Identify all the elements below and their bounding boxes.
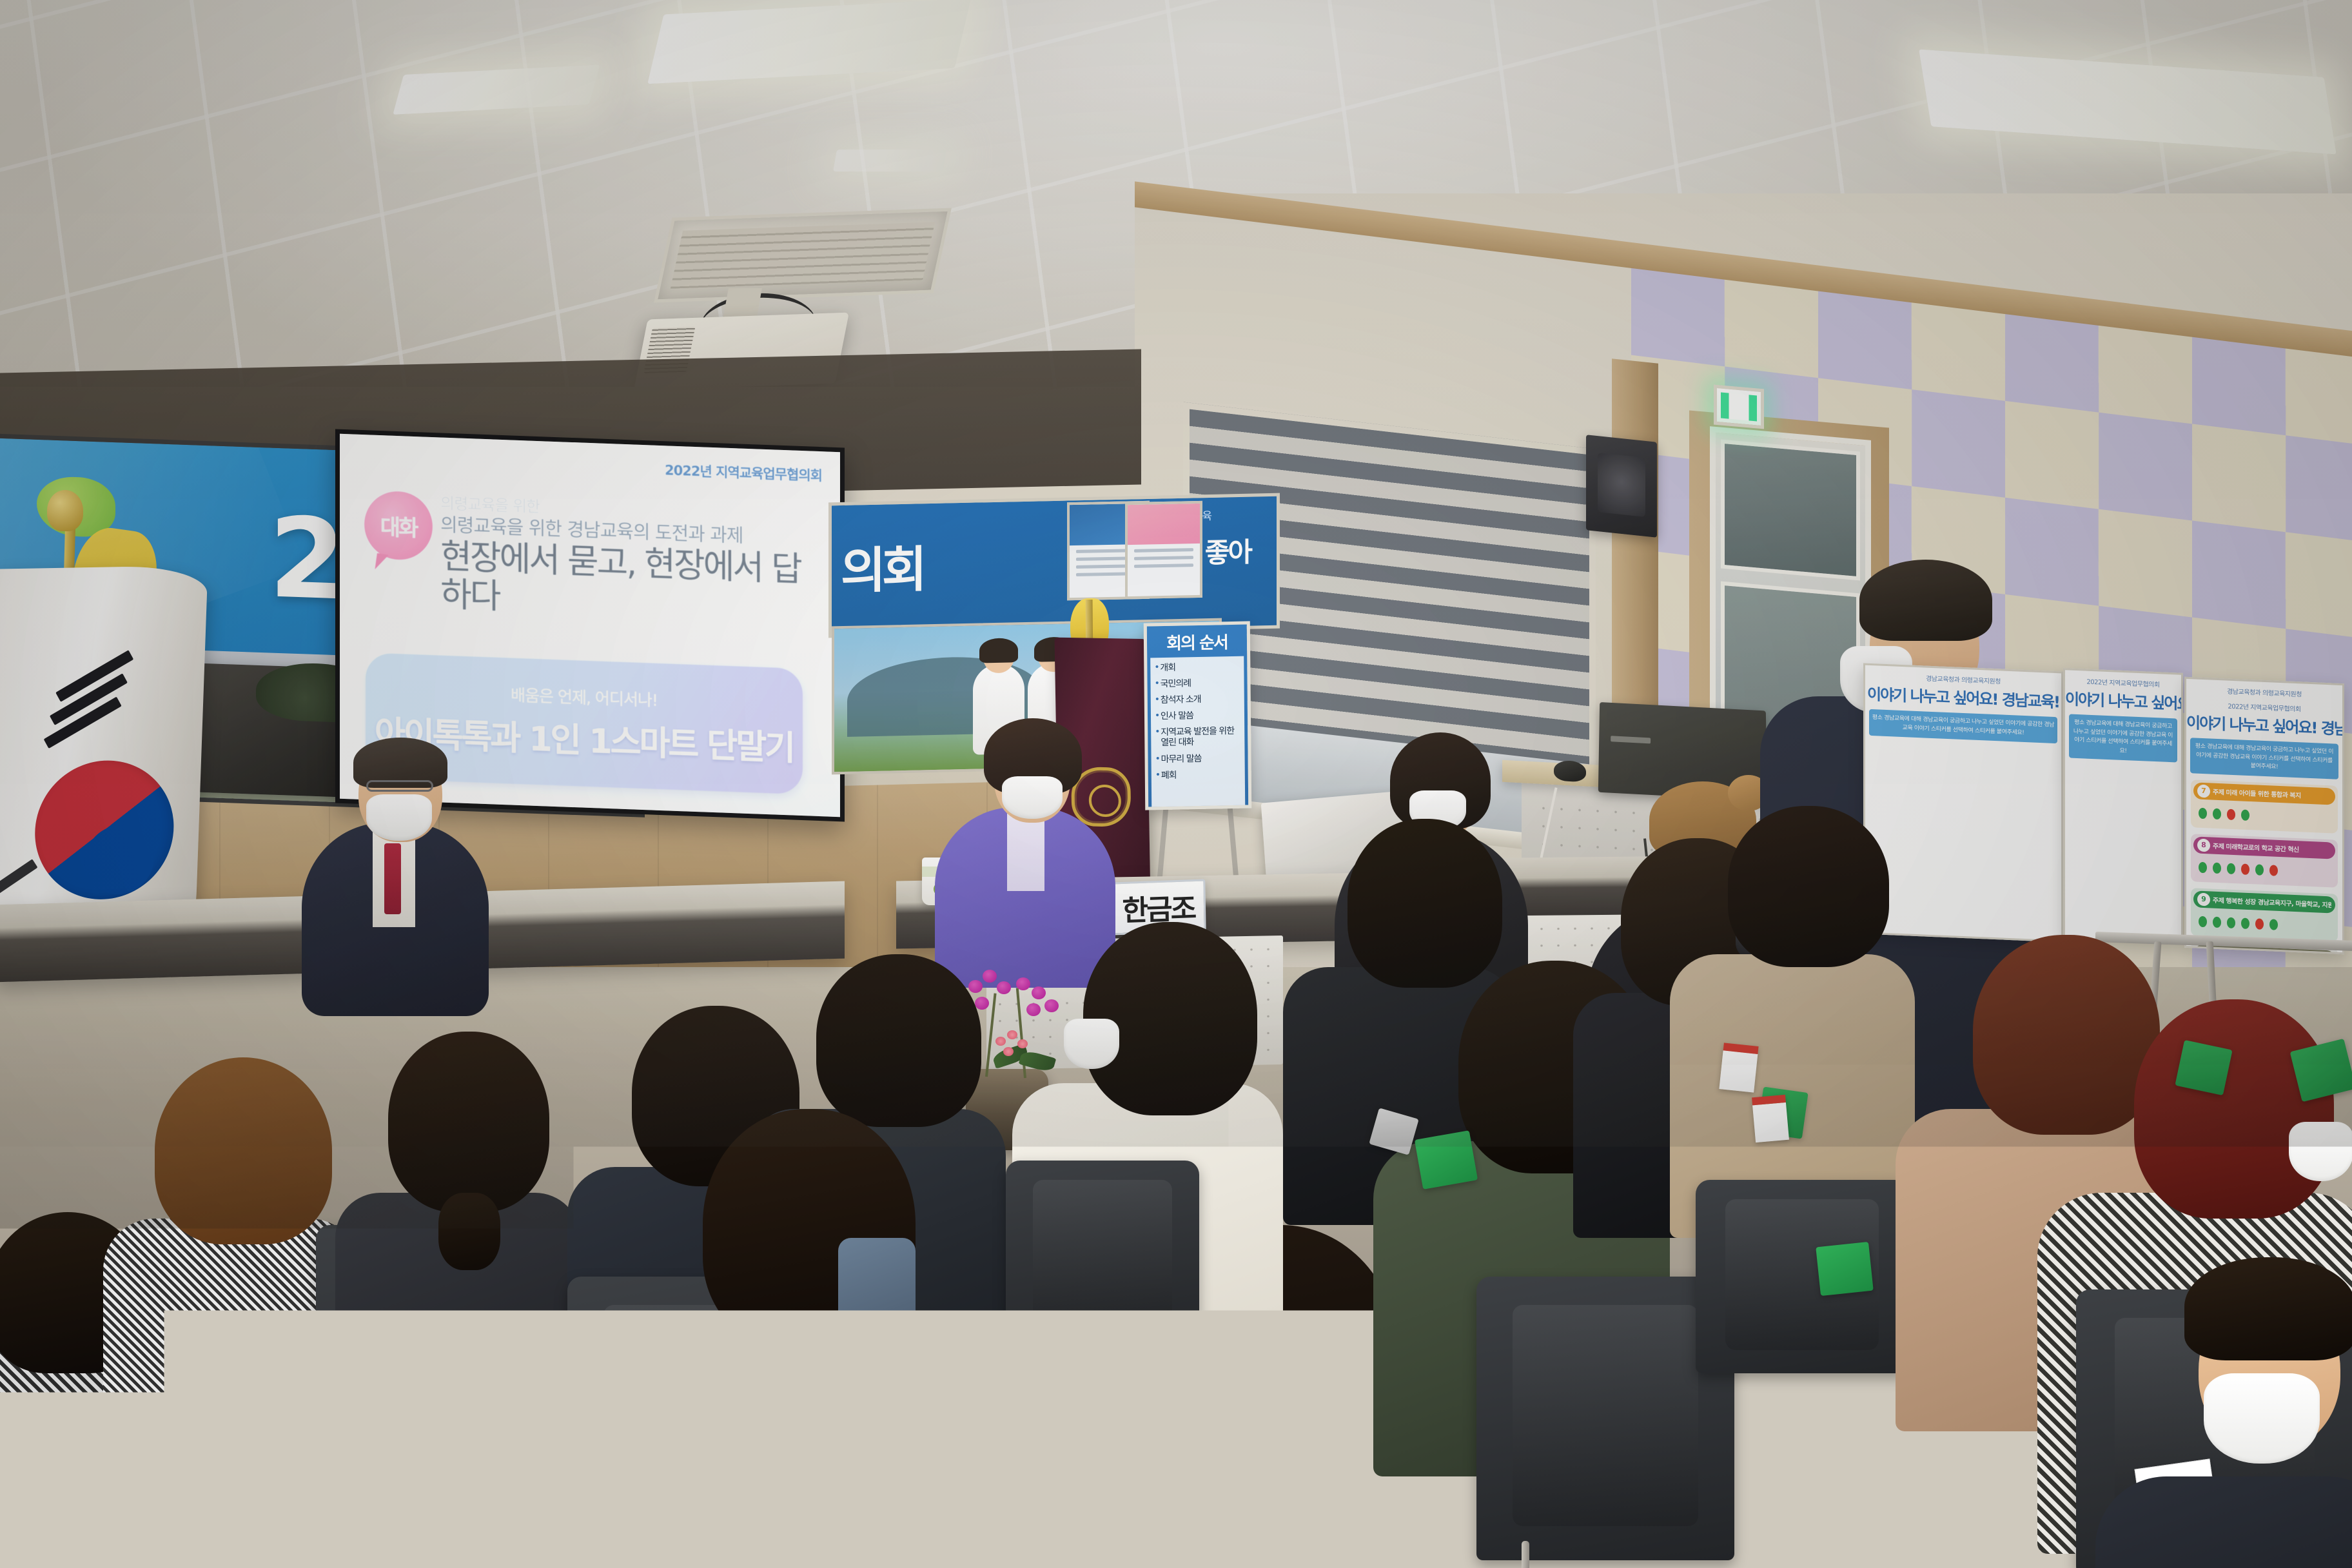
- sticker-dot-red: [2227, 808, 2235, 820]
- sticker-dot-green: [2241, 809, 2249, 821]
- sticker-dot-green: [2269, 919, 2278, 930]
- person-hair: [1728, 806, 1889, 967]
- poster-topic-label: 주제 미래 아이들 위한 통합과 복지: [2213, 787, 2301, 800]
- agenda-item: 폐회: [1155, 769, 1241, 781]
- poster-topic-number: 8: [2197, 838, 2210, 852]
- sticker-dot-green: [2255, 864, 2264, 876]
- orchid-bloom: [1016, 977, 1030, 990]
- ponytail: [438, 1193, 500, 1270]
- kalanchoe-flower: [1007, 1030, 1017, 1039]
- poster-instruction: 평소 경남교육에 대해 경남교육이 궁금하고 나누고 싶었던 이야기에 공감한 …: [1869, 709, 2057, 743]
- sticker-dot-green: [2199, 807, 2207, 819]
- opinion-poster-right: 경남교육청과 의령교육지원청 2022년 지역교육업무협의회 이야기 나누고 싶…: [2184, 677, 2344, 954]
- sticker-dot-group: [2193, 799, 2335, 830]
- hanging-nametag: [1719, 1043, 1758, 1092]
- handbag-strap: [1057, 1354, 1109, 1412]
- face-mask: [2289, 1122, 2352, 1181]
- kalanchoe-flower: [1017, 1039, 1028, 1048]
- poster-topic-row: 9주제 행복한 성장 경남교육지구, 마을학교, 지원기자체: [2191, 888, 2338, 942]
- eyeglasses: [366, 780, 433, 792]
- person-hair-brown: [155, 1057, 332, 1244]
- agenda-item: 국민의례: [1154, 678, 1240, 690]
- speech-bubble-icon: 대화: [364, 490, 433, 561]
- poster-headline: 이야기 나누고 싶어요! 경남교육!: [2186, 710, 2342, 739]
- notice-line: [1134, 564, 1193, 569]
- notice-header: [1128, 504, 1200, 545]
- face-mask: [1064, 1019, 1119, 1069]
- door-glass-upper: [1721, 440, 1860, 581]
- sticker-dot-red: [2255, 918, 2264, 930]
- agenda-item: 참석자 소개: [1155, 694, 1240, 706]
- person-torso: [2095, 1476, 2352, 1568]
- trigram-bar: [0, 859, 38, 895]
- orchid-bloom: [1032, 986, 1046, 999]
- air-conditioner-vent: [654, 208, 952, 303]
- orchid-bloom: [1026, 1003, 1041, 1016]
- agenda-title: 회의 순서: [1147, 625, 1247, 657]
- agenda-list: 개회국민의례참석자 소개인사 말씀지역교육 발전을 위한 열린 대화마무리 말씀…: [1154, 661, 1241, 781]
- poster-topic-row: 7주제 미래 아이들 위한 통합과 복지: [2191, 779, 2338, 834]
- slide-title: 현장에서 묻고, 현장에서 답하다: [440, 538, 822, 627]
- kalanchoe-flower: [995, 1037, 1006, 1046]
- agenda-item: 마무리 말씀: [1155, 752, 1241, 765]
- face-mask: [1002, 776, 1063, 819]
- agenda-sheet: 개회국민의례참석자 소개인사 말씀지역교육 발전을 위한 열린 대화마무리 말씀…: [1150, 656, 1245, 808]
- right-wall-banner: 의회 경남교육 아이 좋아: [828, 493, 1280, 638]
- orchid-bloom: [975, 997, 989, 1010]
- necktie: [384, 843, 401, 914]
- green-card[interactable]: [1816, 1242, 1873, 1296]
- child-hair: [979, 638, 1018, 663]
- ceiling-light-fixture: [833, 150, 946, 171]
- orchid-bloom: [983, 970, 997, 983]
- flag-finial: [47, 490, 83, 531]
- bubble-label: 대화: [380, 509, 417, 542]
- person-torso: [554, 1322, 967, 1568]
- person-hair-ponytail: [388, 1032, 549, 1212]
- sticker-dot-green: [2227, 917, 2235, 928]
- kalanchoe-flower: [1003, 1047, 1014, 1056]
- poster-topic-row: 8주제 미래학교로의 학교 공간 혁신: [2191, 834, 2338, 888]
- emergency-exit-sign: [1714, 385, 1764, 429]
- agenda-item: 지역교육 발전을 위한 열린 대화: [1155, 726, 1240, 749]
- chair-leg: [1522, 1541, 1529, 1568]
- face-mask: [366, 794, 432, 841]
- taeguk-symbol: [12, 736, 197, 925]
- sticker-dot-green: [2241, 917, 2249, 929]
- person-hair: [1859, 560, 1992, 641]
- poster-topic-label: 주제 미래학교로의 학교 공간 혁신: [2213, 841, 2299, 854]
- person-hair-auburn: [1973, 935, 2160, 1135]
- face-mask: [2204, 1373, 2320, 1464]
- slide-header: 2022년 지역교육업무협의회: [358, 449, 822, 485]
- handbag: [1006, 1399, 1154, 1560]
- green-card[interactable]: [1415, 1130, 1478, 1190]
- sticker-dot-green: [2213, 916, 2221, 928]
- shirt-collar: [838, 1238, 916, 1354]
- opinion-poster-center: 2022년 지역교육업무협의회 이야기 나누고 싶어요! 경남교육! 평소 경남…: [2063, 668, 2183, 944]
- person-hair: [816, 954, 981, 1127]
- sticker-dot-group: [2193, 853, 2335, 885]
- person-hair-red: [2134, 999, 2334, 1219]
- agenda-board: 회의 순서 개회국민의례참석자 소개인사 말씀지역교육 발전을 위한 열린 대화…: [1144, 621, 1252, 810]
- agenda-item: 개회: [1154, 661, 1240, 674]
- person-hair: [1347, 819, 1502, 988]
- poster-topic-label: 주제 행복한 성장 경남교육지구, 마을학교, 지원기자체: [2213, 895, 2331, 910]
- hanging-nametag: [1752, 1095, 1789, 1142]
- sticker-dot-green: [2227, 863, 2235, 874]
- meeting-room-photo: 2022년 솥바위 2022년 지역교육업무협의회 대화 의령교육을: [0, 0, 2352, 1568]
- poster-tiny-header: 경남교육청과 의령교육지원청: [2186, 684, 2342, 700]
- wall-notice-pink: [1125, 501, 1202, 599]
- sticker-dot-green: [2213, 862, 2221, 874]
- sticker-dot-green: [2213, 808, 2221, 819]
- poster-instruction: 평소 경남교육에 대해 경남교육이 궁금하고 나누고 싶었던 이야기에 공감한 …: [2190, 738, 2338, 779]
- blouse: [1007, 814, 1044, 891]
- poster-topic-rows: 7주제 미래 아이들 위한 통합과 복지8주제 미래학교로의 학교 공간 혁신9…: [2186, 779, 2342, 954]
- orchid-bloom: [1044, 999, 1059, 1012]
- slide-highlight-small: 배움은 언제, 어디서나!: [511, 682, 658, 710]
- poster-instruction: 평소 경남교육에 대해 경남교육이 궁금하고 나누고 싶었던 이야기에 공감한 …: [2069, 714, 2177, 762]
- notice-line: [1134, 556, 1193, 561]
- office-chair[interactable]: [1696, 1180, 1908, 1373]
- person-hair: [2184, 1257, 2352, 1360]
- sticker-dot-green: [2199, 861, 2207, 873]
- orchid-bloom: [997, 981, 1011, 994]
- poster-topic-number: 7: [2197, 784, 2210, 798]
- banner-right-text: 의회: [841, 529, 923, 602]
- wall-speaker: [1586, 435, 1657, 538]
- opinion-poster-left: 경남교육청과 의령교육지원청 이야기 나누고 싶어요! 경남교육! 평소 경남교…: [1863, 663, 2063, 943]
- agenda-item: 인사 말씀: [1155, 710, 1240, 722]
- sticker-dot-green: [2199, 916, 2207, 927]
- orchid-bloom: [968, 980, 983, 993]
- poster-headline: 이야기 나누고 싶어요! 경남교육!: [2065, 686, 2181, 714]
- sticker-dot-red: [2269, 865, 2278, 876]
- sticker-dot-red: [2241, 863, 2249, 875]
- poster-topic-number: 9: [2197, 892, 2210, 906]
- green-card[interactable]: [2175, 1040, 2232, 1095]
- office-chair[interactable]: [1006, 1161, 1199, 1354]
- notice-line: [1134, 549, 1193, 553]
- sticker-dot-group: [2193, 907, 2335, 939]
